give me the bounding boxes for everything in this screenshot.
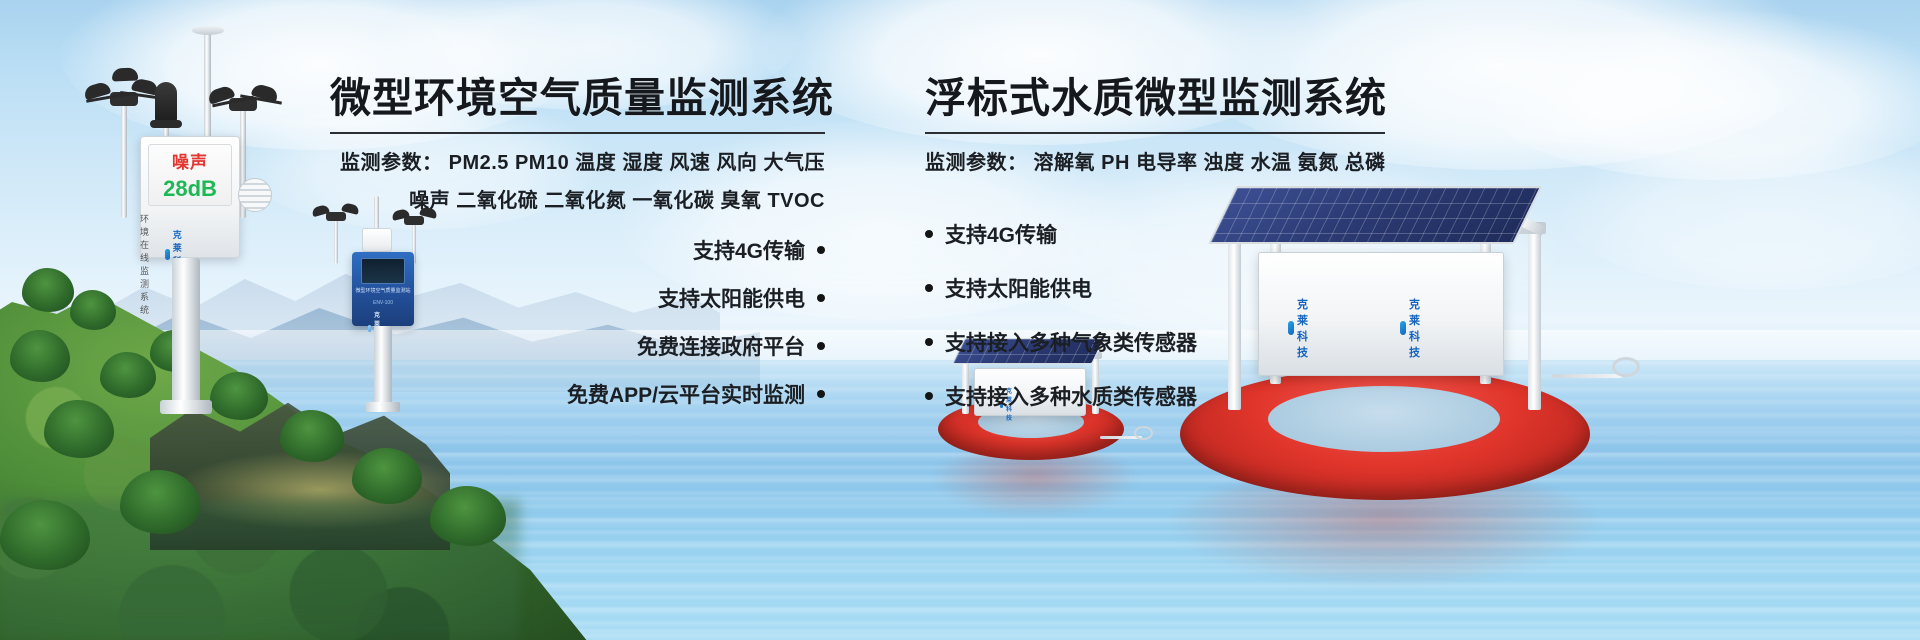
bullet-label: 支持太阳能供电 [945, 273, 1092, 303]
tree [22, 268, 74, 312]
temp-humidity-shield [238, 178, 272, 212]
list-item: 支持接入多种水质类传感器 [925, 381, 1385, 411]
left-panel-bullets: 支持4G传输 支持太阳能供电 免费连接政府平台 免费APP/云平台实时监测 [330, 235, 825, 409]
brand-logo-icon [1400, 321, 1406, 335]
tree [70, 290, 116, 330]
left-panel-divider [330, 132, 825, 134]
list-item: 支持4G传输 [925, 219, 1385, 249]
right-panel-divider [925, 132, 1385, 134]
brand-logo-icon [165, 249, 170, 260]
sensor-bracket [150, 120, 182, 128]
noise-value: 28dB [163, 176, 217, 202]
tree [10, 330, 70, 382]
bullet-dot-icon [925, 392, 933, 400]
right-text-panel: 浮标式水质微型监测系统 监测参数： 溶解氧 PH 电导率 浊度 水温 氨氮 总磷… [925, 64, 1385, 429]
list-item: 免费APP/云平台实时监测 [330, 379, 825, 409]
anemometer-pole [121, 100, 127, 218]
bullet-dot-icon [817, 294, 825, 302]
bullet-label: 支持接入多种气象类传感器 [945, 327, 1197, 357]
tree [44, 400, 114, 458]
left-panel-params-line-2: 噪声 二氧化硫 二氧化氮 一氧化碳 臭氧 TVOC [330, 184, 825, 213]
tree [430, 486, 506, 546]
tree [100, 352, 156, 398]
noise-title: 噪声 [172, 148, 208, 173]
tree [352, 448, 422, 504]
bullet-dot-icon [817, 342, 825, 350]
left-panel-params-line-1: 监测参数： PM2.5 PM10 温度 湿度 风速 风向 大气压 [330, 146, 825, 175]
bullet-dot-icon [925, 230, 933, 238]
buoy-mooring-arm [1552, 374, 1622, 378]
list-item: 支持太阳能供电 [925, 273, 1385, 303]
brand-name: 克莱科技 [1409, 296, 1428, 360]
bullet-label: 支持4G传输 [693, 235, 805, 265]
radiation-shield-top [192, 26, 224, 35]
banner-stage: 噪声 28dB 环境在线监测系统 克莱科技 微型环境空气质量监测站 ENV-10… [0, 0, 1920, 640]
right-panel-title: 浮标式水质微型监测系统 [925, 64, 1385, 124]
bullet-label: 支持接入多种水质类传感器 [945, 381, 1197, 411]
left-text-panel: 微型环境空气质量监测系统 监测参数： PM2.5 PM10 温度 湿度 风速 风… [330, 64, 825, 427]
anemometer-cup [112, 68, 138, 82]
right-panel-params-line-1: 监测参数： 溶解氧 PH 电导率 浊度 水温 氨氮 总磷 [925, 146, 1385, 175]
bullet-label: 支持太阳能供电 [658, 283, 805, 313]
tree [210, 372, 268, 420]
station-column [172, 258, 200, 408]
list-item: 支持接入多种气象类传感器 [925, 327, 1385, 357]
station-base [160, 400, 212, 414]
list-item: 支持4G传输 [330, 235, 825, 265]
bullet-dot-icon [817, 246, 825, 254]
bullet-dot-icon [925, 338, 933, 346]
bullet-label: 免费APP/云平台实时监测 [567, 379, 805, 409]
radiation-sensor [155, 82, 177, 122]
buoy-mooring-ring [1612, 357, 1640, 377]
right-panel-bullets: 支持4G传输 支持太阳能供电 支持接入多种气象类传感器 支持接入多种水质类传感器 [925, 219, 1385, 411]
bullet-label: 支持4G传输 [945, 219, 1057, 249]
bullet-label: 免费连接政府平台 [637, 331, 805, 361]
left-panel-title: 微型环境空气质量监测系统 [330, 64, 825, 124]
buoy-brand-right: 克莱科技 [1400, 296, 1428, 360]
bullet-dot-icon [817, 390, 825, 398]
bullet-dot-icon [925, 284, 933, 292]
cabinet-display: 噪声 28dB [148, 144, 232, 206]
list-item: 支持太阳能供电 [330, 283, 825, 313]
buoy-frame-leg [1528, 228, 1541, 410]
list-item: 免费连接政府平台 [330, 331, 825, 361]
